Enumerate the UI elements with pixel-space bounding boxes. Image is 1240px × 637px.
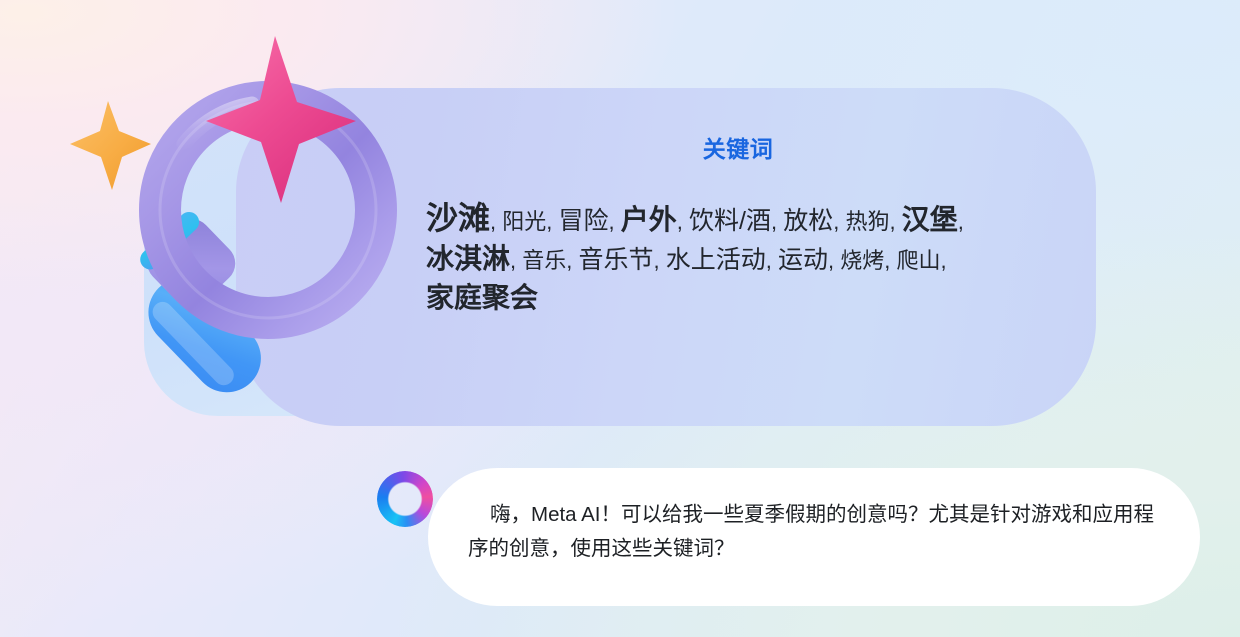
keyword-separator: , (884, 248, 896, 273)
keyword-separator: , (510, 248, 522, 273)
keyword-item: 家庭聚会 (426, 282, 538, 313)
keyword-item: 热狗 (845, 209, 889, 234)
keyword-item: 户外 (621, 204, 677, 235)
keyword-separator: , (654, 248, 666, 273)
keyword-separator: , (490, 209, 502, 234)
keyword-card: 关键词 沙滩, 阳光, 冒险, 户外, 饮料/酒, 放松, 热狗, 汉堡, 冰淇… (236, 88, 1096, 426)
chat-message-text: 嗨，Meta AI！可以给我一些夏季假期的创意吗？尤其是针对游戏和应用程序的创意… (468, 498, 1172, 567)
keyword-item: 音乐 (522, 248, 566, 273)
keyword-item: 冰淇淋 (426, 243, 510, 274)
keyword-separator: , (771, 209, 783, 234)
keyword-item: 水上活动 (666, 246, 766, 274)
keyword-separator: , (833, 209, 845, 234)
keyword-separator: , (546, 209, 558, 234)
keyword-item: 放松 (783, 207, 833, 235)
keyword-separator: , (609, 209, 621, 234)
keyword-item: 阳光 (502, 209, 546, 234)
keyword-card-title: 关键词 (410, 130, 1066, 164)
keyword-item: 冒险 (559, 207, 609, 235)
keyword-separator: , (677, 209, 689, 234)
poster-canvas: 关键词 沙滩, 阳光, 冒险, 户外, 饮料/酒, 放松, 热狗, 汉堡, 冰淇… (0, 0, 1240, 637)
keyword-separator: , (958, 209, 964, 234)
orange-sparkle-star (70, 101, 151, 190)
user-chat-bubble: 嗨，Meta AI！可以给我一些夏季假期的创意吗？尤其是针对游戏和应用程序的创意… (428, 468, 1200, 606)
keyword-item: 汉堡 (902, 204, 958, 235)
keyword-list: 沙滩, 阳光, 冒险, 户外, 饮料/酒, 放松, 热狗, 汉堡, 冰淇淋, 音… (426, 196, 1052, 317)
keyword-item: 烧烤 (840, 248, 884, 273)
meta-ai-logo-icon (377, 471, 433, 527)
keyword-separator: , (828, 248, 840, 273)
keyword-item: 运动 (778, 246, 828, 274)
keyword-item: 沙滩 (426, 200, 490, 236)
keyword-separator: , (941, 248, 947, 273)
keyword-item: 爬山 (897, 248, 941, 273)
keyword-separator: , (766, 248, 778, 273)
keyword-item: 饮料/酒 (689, 207, 771, 235)
keyword-separator: , (889, 209, 901, 234)
keyword-separator: , (566, 248, 578, 273)
keyword-item: 音乐节 (579, 246, 654, 274)
